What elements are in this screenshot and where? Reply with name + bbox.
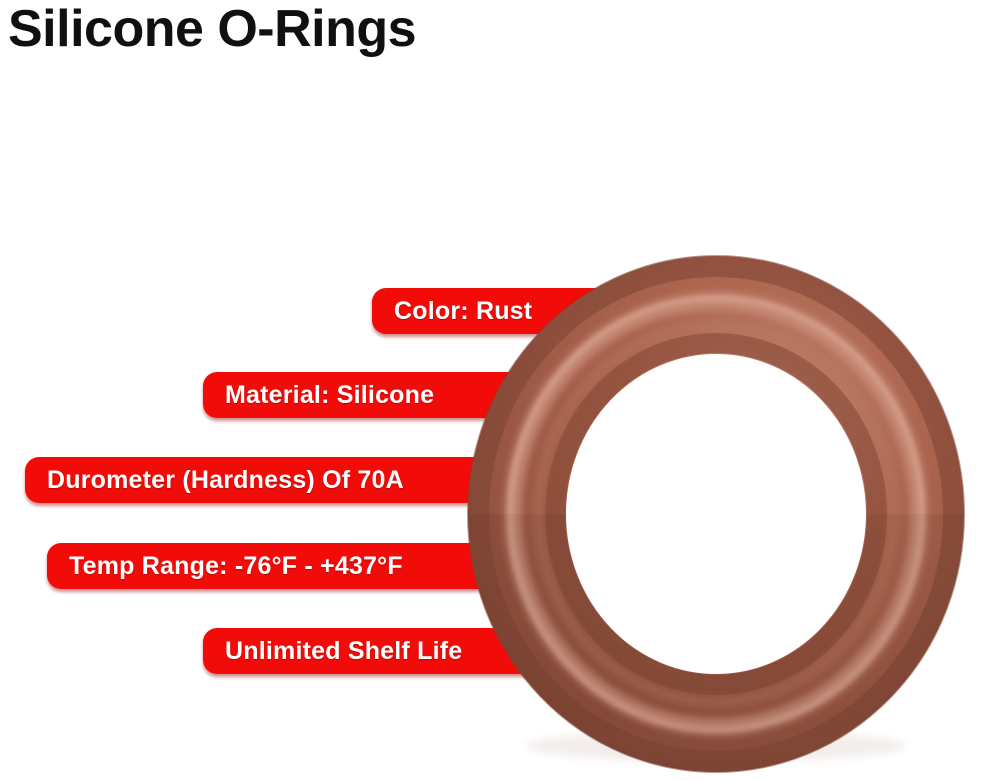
feature-banner-label: Unlimited Shelf Life bbox=[225, 637, 462, 666]
feature-banner-color: Color: Rust bbox=[372, 288, 622, 334]
feature-banner-durometer: Durometer (Hardness) Of 70A bbox=[25, 457, 500, 503]
feature-banner-temp-range: Temp Range: -76°F - +437°F bbox=[47, 543, 497, 589]
feature-banner-label: Material: Silicone bbox=[225, 381, 434, 410]
feature-banner-label: Temp Range: -76°F - +437°F bbox=[69, 552, 403, 581]
product-infographic: Silicone O-Rings Color: Rust Material: S… bbox=[0, 0, 1000, 781]
feature-banner-label: Durometer (Hardness) Of 70A bbox=[47, 466, 404, 495]
feature-banner-material: Material: Silicone bbox=[203, 372, 543, 418]
feature-banner-label: Color: Rust bbox=[394, 297, 532, 326]
feature-banner-shelf-life: Unlimited Shelf Life bbox=[203, 628, 548, 674]
feature-banner-list: Color: Rust Material: Silicone Durometer… bbox=[0, 0, 1000, 781]
